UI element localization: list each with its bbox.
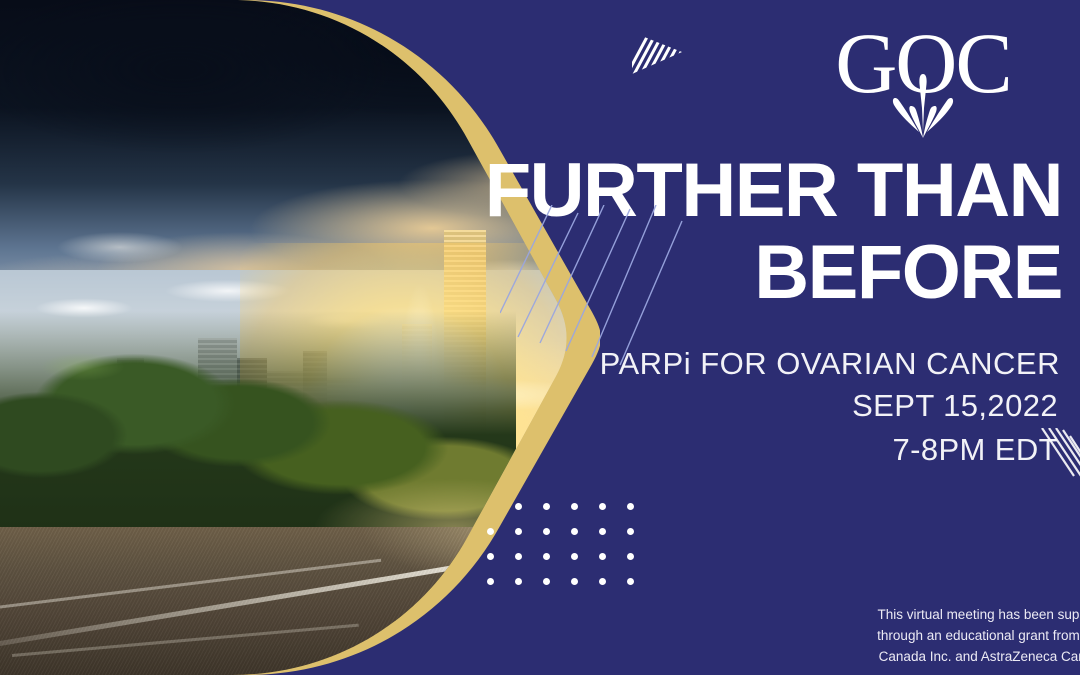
poster-canvas: GOC FURTHER THAN BEFORE: [0, 0, 1080, 675]
event-date: SEPT 15,2022: [418, 388, 1058, 424]
goc-flourish-icon: [878, 72, 968, 147]
road-edge-line: [0, 564, 462, 650]
city-sunset-photo: [0, 0, 600, 675]
disclaimer-line-3: Canada Inc. and AstraZeneca Cana: [836, 646, 1080, 667]
hero-image: [0, 0, 600, 675]
event-time: 7-8PM EDT: [418, 432, 1058, 468]
goc-logo: GOC: [808, 20, 1038, 132]
title-line-2: BEFORE: [402, 232, 1062, 314]
page-title: FURTHER THAN BEFORE: [402, 150, 1062, 314]
disclaimer-line-1: This virtual meeting has been suppo: [836, 604, 1080, 625]
support-disclaimer: This virtual meeting has been suppo thro…: [836, 604, 1080, 667]
title-line-1: FURTHER THAN: [485, 148, 1062, 233]
road: [0, 527, 600, 675]
disclaimer-line-2: through an educational grant from M: [836, 625, 1080, 646]
striped-triangle-icon: [630, 30, 686, 81]
event-subtitle: PARPi FOR OVARIAN CANCER: [420, 343, 1060, 385]
